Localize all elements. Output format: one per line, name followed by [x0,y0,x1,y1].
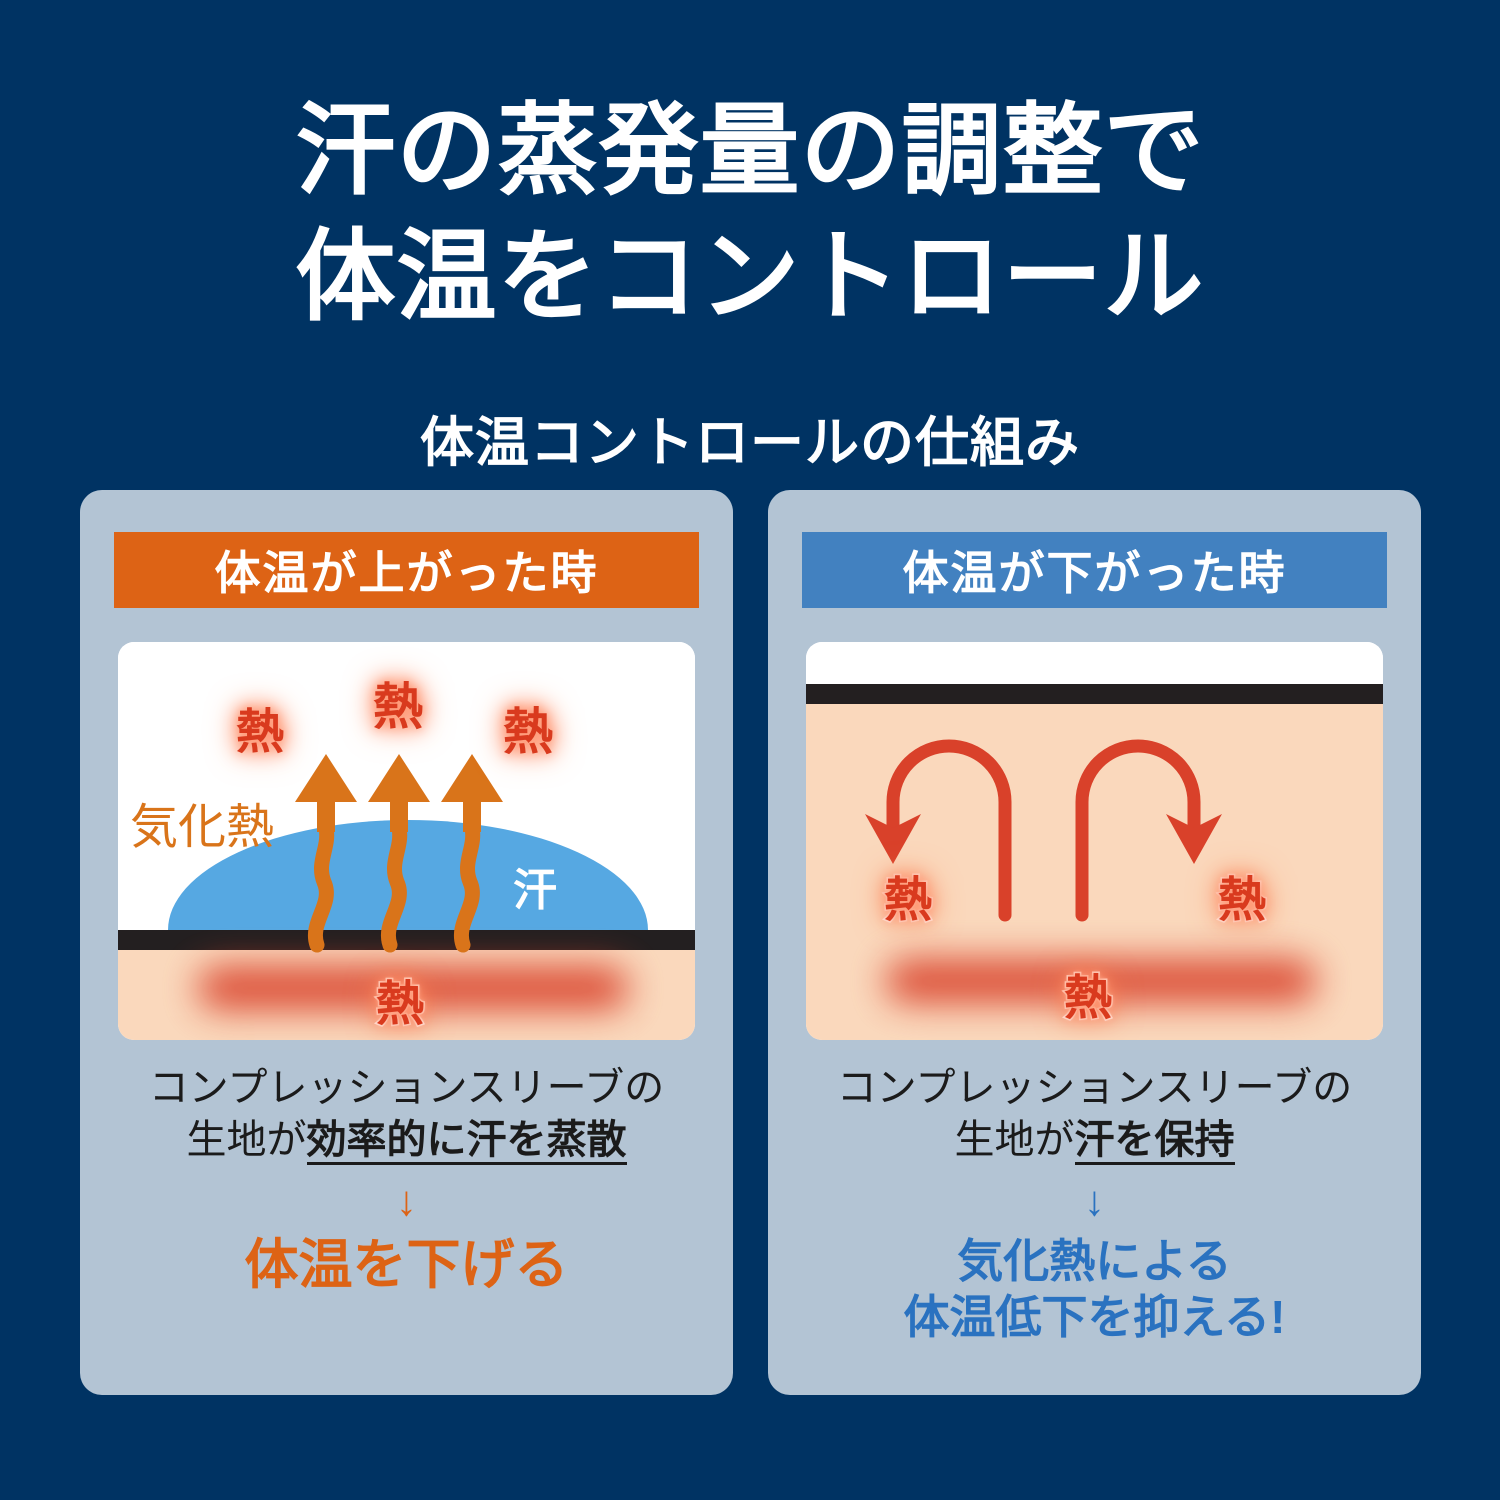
heat-kanji-air-2: 熱 [373,667,423,739]
caption-line-2-plain: 生地が [955,1118,1075,1162]
page-title-line-2: 体温をコントロール [0,214,1500,340]
caption-line-2-plain: 生地が [187,1118,307,1162]
heat-kanji-body: 熱 [376,964,424,1034]
infographic-root: 汗の蒸発量の調整で 体温をコントロール 体温コントロールの仕組み 体温が上がった… [0,0,1500,1500]
heat-kanji-left: 熱 [884,860,932,930]
heat-kanji-air-1: 熱 [236,692,284,762]
panel-header-temperature-down: 体温が下がった時 [802,532,1387,608]
heat-kanji-body: 熱 [1064,958,1112,1028]
illustration-temperature-down: 熱 熱 熱 [806,642,1383,1040]
caption-temperature-down: コンプレッションスリーブの 生地が汗を保持 ↓ 気化熱による 体温低下を抑える! [788,1062,1401,1345]
flow-arrow-down: ↓ [100,1174,713,1229]
page-title: 汗の蒸発量の調整で 体温をコントロール [0,88,1500,340]
result-text-line-1: 気化熱による [788,1233,1401,1289]
panel-card-temperature-down: 体温が下がった時 熱 熱 [768,490,1421,1395]
heat-kanji-right: 熱 [1218,860,1266,930]
caption-line-1: コンプレッションスリーブの [149,1066,665,1110]
result-text: 体温を下げる [100,1233,713,1299]
caption-line-2-emphasis: 効率的に汗を蒸散 [307,1118,627,1165]
result-text-line-2: 体温低下を抑える! [788,1289,1401,1345]
flow-arrow-down: ↓ [788,1174,1401,1229]
panel-header-temperature-up: 体温が上がった時 [114,532,699,608]
page-subtitle: 体温コントロールの仕組み [0,398,1500,477]
caption-line-2-emphasis: 汗を保持 [1075,1118,1235,1165]
panel-card-temperature-up: 体温が上がった時 汗 [80,490,733,1395]
heat-kanji-air-3: 熱 [503,692,553,764]
illustration-temperature-up: 汗 熱 熱 熱 [118,642,695,1040]
caption-temperature-up: コンプレッションスリーブの 生地が効率的に汗を蒸散 ↓ 体温を下げる [100,1062,713,1298]
page-title-line-1: 汗の蒸発量の調整で [0,88,1500,214]
vaporization-heat-label: 気化熱 [130,787,274,857]
caption-line-1: コンプレッションスリーブの [837,1066,1353,1110]
